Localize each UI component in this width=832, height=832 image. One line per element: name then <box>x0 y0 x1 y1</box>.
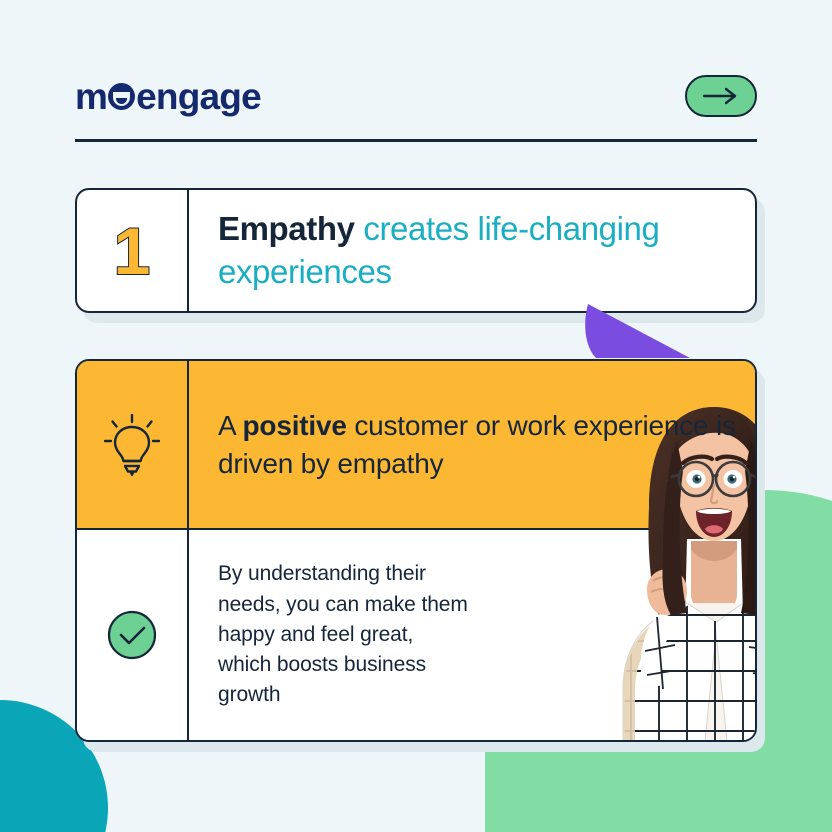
header-divider <box>75 139 757 142</box>
logo-text-before: m <box>75 78 107 115</box>
card-one-text-cell: Empathy creates life-changing experience… <box>189 190 755 311</box>
row-benefit-body: By understanding their needs, you can ma… <box>189 530 755 740</box>
number-badge: 1 <box>114 218 151 284</box>
row-idea-text-strong: positive <box>243 410 347 441</box>
card-two[interactable]: A positive customer or work experience i… <box>75 359 757 742</box>
smiling-o-mark-icon <box>108 83 135 110</box>
moengage-logo[interactable]: mengage <box>75 78 261 115</box>
next-button[interactable] <box>685 75 757 117</box>
lightbulb-icon <box>104 414 160 476</box>
card-one-badge-cell: 1 <box>77 190 189 311</box>
row-idea-text: A positive customer or work experience i… <box>218 407 739 482</box>
logo-text-after: engage <box>136 78 261 115</box>
row-benefit-text: By understanding their needs, you can ma… <box>218 559 468 710</box>
arrow-right-icon <box>701 87 741 105</box>
row-idea: A positive customer or work experience i… <box>77 361 755 530</box>
header: mengage <box>75 66 757 126</box>
card-one-headline: Empathy creates life-changing experience… <box>218 208 755 292</box>
check-circle-icon <box>107 610 157 660</box>
row-idea-body: A positive customer or work experience i… <box>189 361 755 528</box>
headline-strong: Empathy <box>218 210 355 247</box>
row-benefit: By understanding their needs, you can ma… <box>77 530 755 740</box>
row-idea-text-lead: A <box>218 410 243 441</box>
row-idea-icon-cell <box>77 361 189 528</box>
card-one[interactable]: 1 Empathy creates life-changing experien… <box>75 188 757 313</box>
row-benefit-icon-cell <box>77 530 189 740</box>
